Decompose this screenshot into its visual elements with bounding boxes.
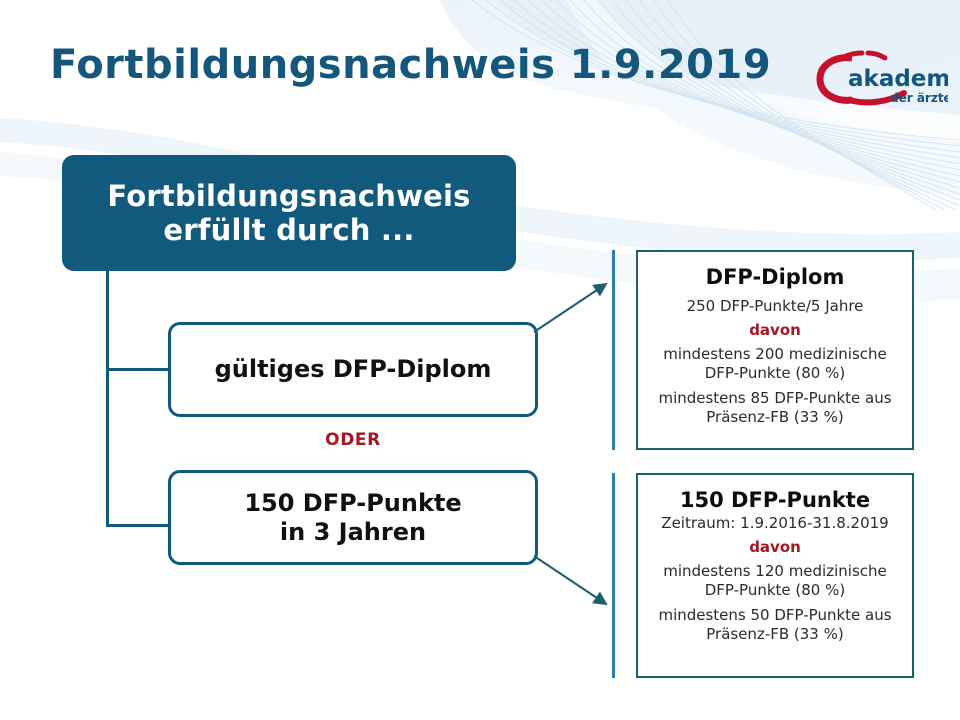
connector-vertical-trunk [106, 271, 109, 527]
detail-panel-dfp-diplom-req1: mindestens 200 medizinische DFP-Punkte (… [650, 345, 900, 383]
logo-word-sub: der ärzte [890, 91, 948, 105]
option-box-150-punkte-line2: in 3 Jahren [244, 518, 461, 547]
detail-panel-150-punkte-title: 150 DFP-Punkte [650, 489, 900, 512]
arrow-to-detail-punkte [530, 548, 630, 620]
root-node-line1: Fortbildungsnachweis [107, 179, 470, 213]
detail-panel-150-punkte-req1: mindestens 120 medizinische DFP-Punkte (… [650, 562, 900, 600]
akademie-logo: akademie der ärzte [808, 48, 948, 110]
arrow-to-detail-diplom [530, 270, 630, 340]
accent-bar-detail-punkte [612, 473, 615, 678]
option-box-dfp-diplom-label: gültiges DFP-Diplom [215, 355, 492, 384]
root-node-box: Fortbildungsnachweis erfüllt durch ... [62, 155, 516, 271]
page-title: Fortbildungsnachweis 1.9.2019 [50, 42, 771, 88]
detail-panel-dfp-diplom-subtitle: 250 DFP-Punkte/5 Jahre [650, 297, 900, 316]
option-box-150-punkte-label: 150 DFP-Punkte in 3 Jahren [244, 489, 461, 547]
accent-bar-detail-diplom [612, 250, 615, 450]
logo-word-main: akademie [848, 66, 948, 92]
detail-panel-150-punkte-davon: davon [650, 538, 900, 556]
option-box-150-punkte-line1: 150 DFP-Punkte [244, 489, 461, 518]
option-box-dfp-diplom: gültiges DFP-Diplom [168, 322, 538, 417]
connector-branch-bottom [106, 524, 170, 527]
root-node-line2: erfüllt durch ... [107, 213, 470, 247]
detail-panel-dfp-diplom-req2: mindestens 85 DFP-Punkte aus Präsenz-FB … [650, 389, 900, 427]
detail-panel-150-punkte-req2: mindestens 50 DFP-Punkte aus Präsenz-FB … [650, 606, 900, 644]
root-node-text: Fortbildungsnachweis erfüllt durch ... [107, 179, 470, 247]
or-separator-label: ODER [168, 430, 538, 450]
slide-canvas: Fortbildungsnachweis 1.9.2019 akademie d… [0, 0, 960, 720]
connector-branch-top [106, 368, 170, 371]
detail-panel-dfp-diplom-title: DFP-Diplom [650, 266, 900, 289]
detail-panel-dfp-diplom-davon: davon [650, 321, 900, 339]
detail-panel-150-punkte-subtitle: Zeitraum: 1.9.2016-31.8.2019 [650, 514, 900, 533]
option-box-150-punkte: 150 DFP-Punkte in 3 Jahren [168, 470, 538, 565]
detail-panel-150-punkte: 150 DFP-Punkte Zeitraum: 1.9.2016-31.8.2… [636, 473, 914, 678]
detail-panel-dfp-diplom: DFP-Diplom 250 DFP-Punkte/5 Jahre davon … [636, 250, 914, 450]
